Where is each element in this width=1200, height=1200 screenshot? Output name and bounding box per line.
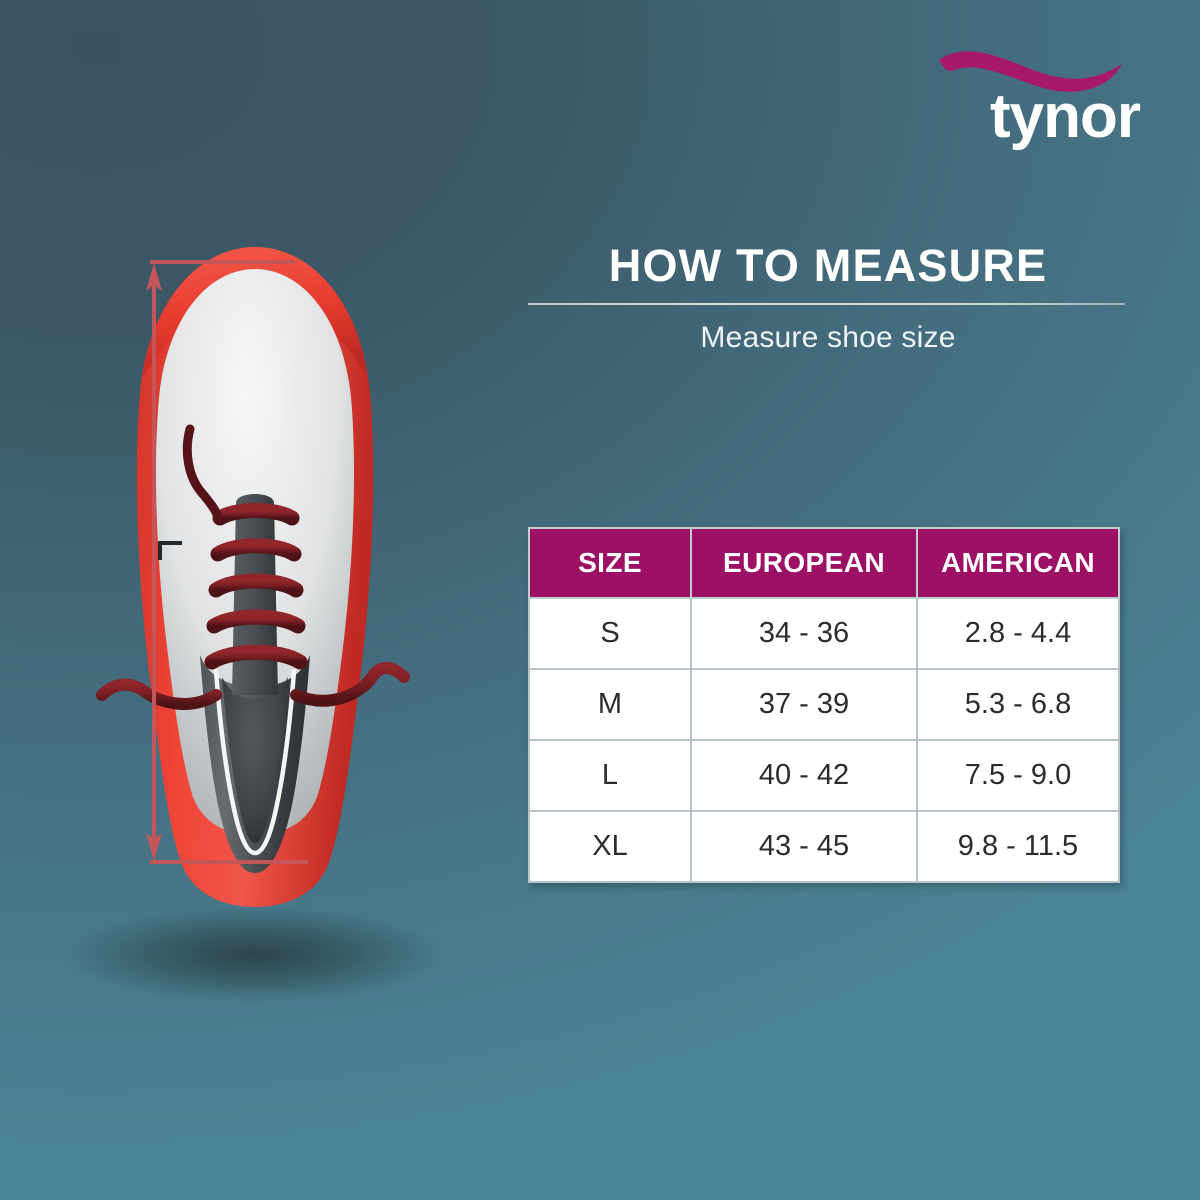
ellipse-shadow <box>65 907 445 1003</box>
cell-american: 2.8 - 4.4 <box>917 598 1119 669</box>
cell-size: S <box>529 598 691 669</box>
size-guide-canvas: tynor HOW TO MEASURE Measure shoe size <box>0 0 1200 1200</box>
column-header-size: SIZE <box>529 528 691 598</box>
brand-logo-wordmark: tynor <box>928 86 1148 148</box>
header-block: HOW TO MEASURE Measure shoe size <box>528 240 1128 355</box>
cell-american: 5.3 - 6.8 <box>917 669 1119 740</box>
size-chart-table: SIZE EUROPEAN AMERICAN S 34 - 36 2.8 - 4… <box>528 527 1120 883</box>
cell-size: XL <box>529 811 691 882</box>
title-divider <box>528 303 1125 305</box>
page-subtitle: Measure shoe size <box>528 321 1128 355</box>
shoe-tongue <box>232 494 278 695</box>
cell-european: 37 - 39 <box>691 669 917 740</box>
table-row: M 37 - 39 5.3 - 6.8 <box>529 669 1119 740</box>
table-row: XL 43 - 45 9.8 - 11.5 <box>529 811 1119 882</box>
cell-size: M <box>529 669 691 740</box>
cell-european: 40 - 42 <box>691 740 917 811</box>
column-header-american: AMERICAN <box>917 528 1119 598</box>
page-title: HOW TO MEASURE <box>528 240 1128 292</box>
cell-european: 34 - 36 <box>691 598 917 669</box>
table-row: L 40 - 42 7.5 - 9.0 <box>529 740 1119 811</box>
cell-american: 7.5 - 9.0 <box>917 740 1119 811</box>
brand-logo: tynor <box>928 40 1148 160</box>
table-header-row: SIZE EUROPEAN AMERICAN <box>529 528 1119 598</box>
cell-american: 9.8 - 11.5 <box>917 811 1119 882</box>
table-row: S 34 - 36 2.8 - 4.4 <box>529 598 1119 669</box>
shoe-top-view-illustration <box>40 225 460 1025</box>
cell-european: 43 - 45 <box>691 811 917 882</box>
column-header-european: EUROPEAN <box>691 528 917 598</box>
cell-size: L <box>529 740 691 811</box>
